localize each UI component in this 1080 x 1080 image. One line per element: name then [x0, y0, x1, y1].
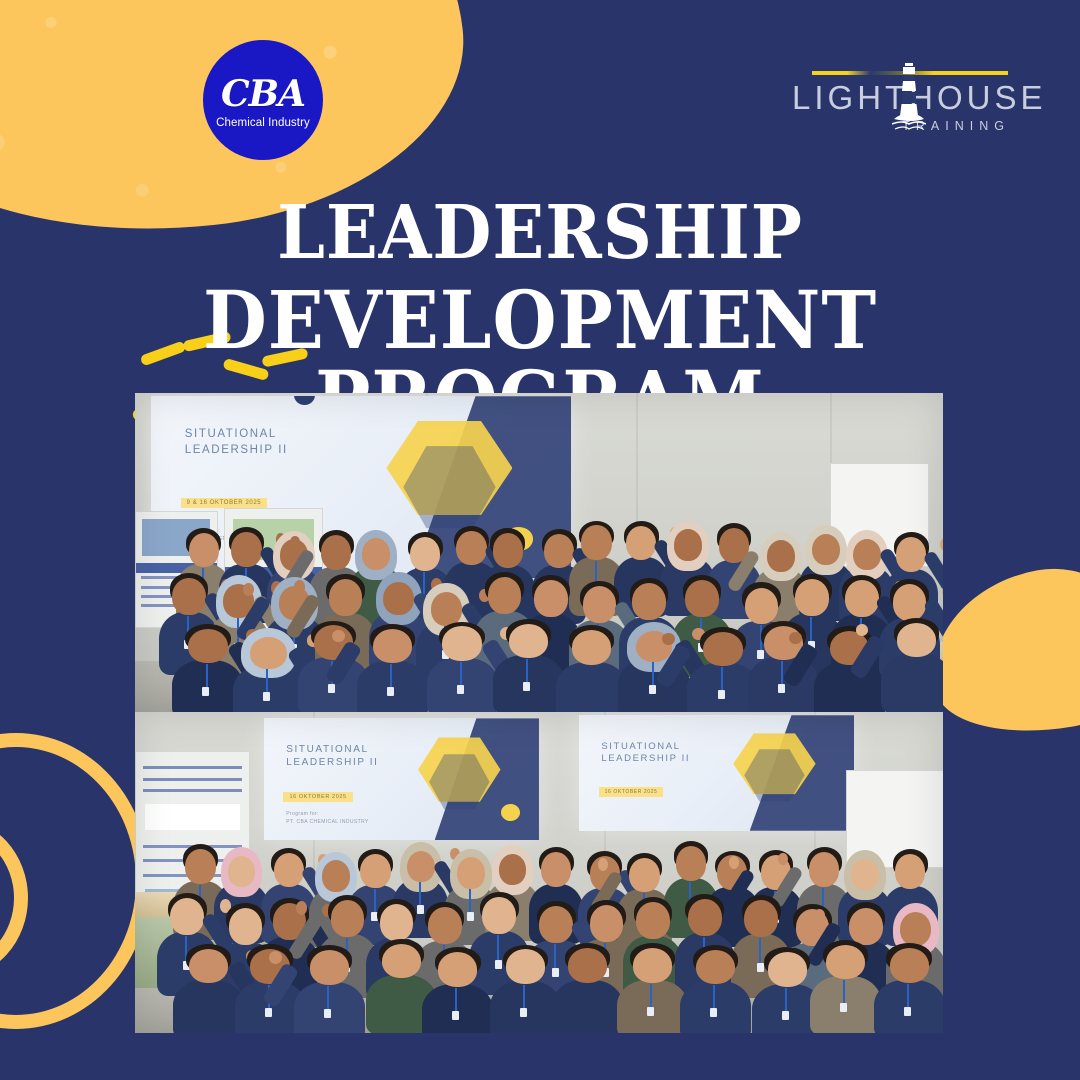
participant: [871, 943, 943, 1033]
cba-logo-subtitle: Chemical Industry: [216, 117, 310, 129]
cba-logo-mark: CBA: [221, 76, 305, 112]
slide-1-title: SITUATIONAL LEADERSHIP II: [185, 427, 288, 458]
slide-2b-title: SITUATIONAL LEADERSHIP II: [601, 741, 690, 767]
slide-2-title: SITUATIONAL LEADERSHIP II: [286, 743, 378, 770]
headline-line-1: LEADERSHIP: [43, 196, 1037, 270]
slide-2b-date: 16 OKTOBER 2025: [599, 787, 664, 797]
slide-1-date: 9 & 16 OKTOBER 2025: [181, 498, 268, 508]
lighthouse-training-logo: LIGHTHOUSE TRAINING: [792, 55, 1020, 145]
participant: [292, 945, 368, 1033]
participant: [355, 624, 431, 712]
projection-slide-2a: SITUATIONAL LEADERSHIP II 16 OKTOBER 202…: [264, 718, 539, 840]
poster-canvas: CBA Chemical Industry LIGHTHOUSE TRAININ…: [0, 0, 1080, 1080]
participant: [878, 618, 943, 712]
participant: [420, 947, 496, 1033]
group-photo-session-2: SITUATIONAL LEADERSHIP II 16 OKTOBER 202…: [135, 712, 943, 1033]
participant: [678, 945, 754, 1033]
participant: [745, 621, 821, 712]
cba-logo: CBA Chemical Industry: [203, 40, 323, 160]
participant: [424, 622, 500, 712]
lighthouse-tower-icon: [892, 61, 926, 133]
group-photo-session-1: SITUATIONAL LEADERSHIP II 9 & 16 OKTOBER…: [135, 393, 943, 712]
slide-2-date: 16 OKTOBER 2025: [283, 792, 352, 802]
slide-2-program-for: Program for: PT. CBA CHEMICAL INDUSTRY: [286, 811, 369, 826]
projection-slide-2b: SITUATIONAL LEADERSHIP II 16 OKTOBER 202…: [579, 715, 854, 831]
